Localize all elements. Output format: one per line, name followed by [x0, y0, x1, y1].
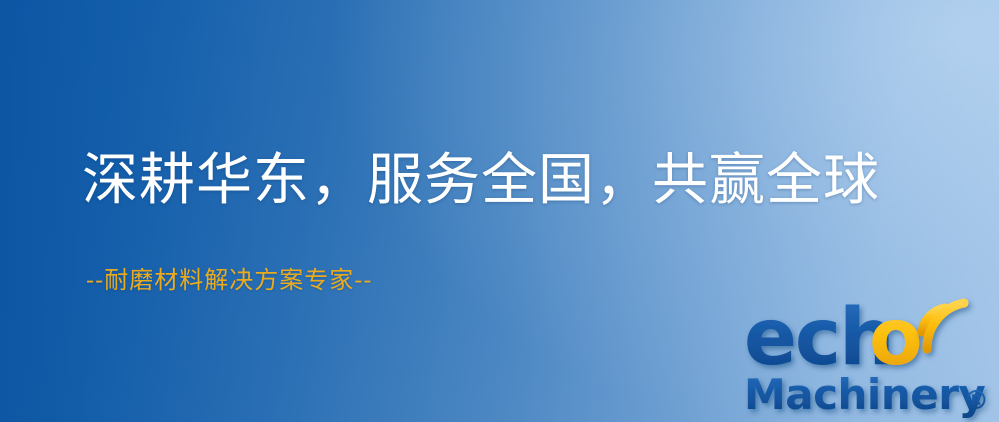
banner-headline: 深耕华东，服务全国，共赢全球: [82, 152, 880, 211]
signal-waves-icon: [922, 303, 964, 349]
logo-tagline: Machinery: [744, 370, 985, 419]
banner-subtitle: --耐磨材料解决方案专家--: [86, 266, 372, 295]
echo-machinery-logo[interactable]: ech o Machinery ®: [742, 296, 999, 422]
hero-banner: 深耕华东，服务全国，共赢全球 --耐磨材料解决方案专家--: [0, 0, 999, 422]
logo-tagline-group: Machinery ®: [744, 370, 989, 419]
logo-svg: ech o Machinery ®: [742, 296, 999, 422]
logo-registered-mark: ®: [963, 386, 989, 416]
